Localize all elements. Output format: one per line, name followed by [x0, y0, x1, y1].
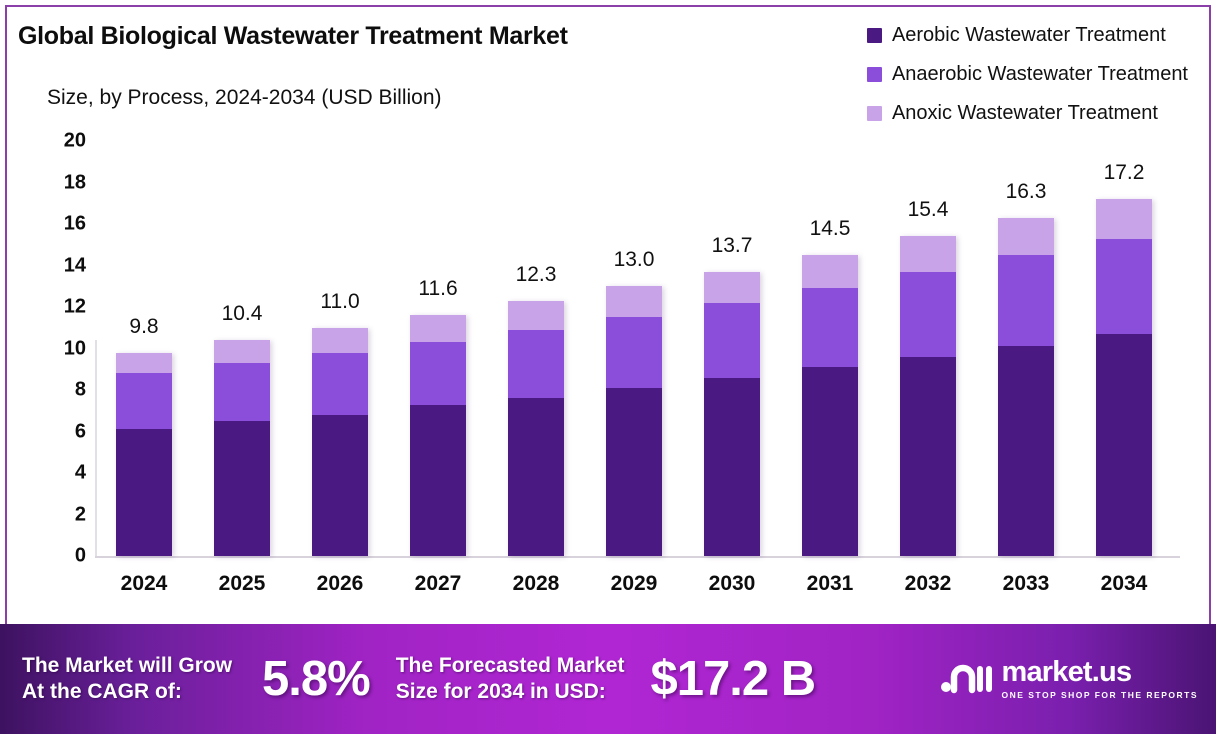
bar-segment[interactable] — [802, 288, 858, 367]
y-axis-tick-label: 6 — [36, 420, 86, 443]
y-axis-tick-label: 2 — [36, 503, 86, 526]
bar-segment[interactable] — [1096, 199, 1152, 238]
bar-segment[interactable] — [312, 328, 368, 353]
bar-segment[interactable] — [214, 421, 270, 556]
x-axis-tick-label: 2031 — [781, 572, 879, 596]
bar-value-label: 14.5 — [781, 217, 879, 241]
bar-segment[interactable] — [116, 353, 172, 374]
y-axis-tick-label: 16 — [36, 213, 86, 236]
bar-segment[interactable] — [1096, 239, 1152, 334]
forecast-label-block: The Forecasted Market Size for 2034 in U… — [396, 653, 625, 706]
bar-segment[interactable] — [802, 367, 858, 556]
cagr-value: 5.8% — [262, 651, 370, 707]
cagr-label-line2: At the CAGR of: — [22, 679, 232, 705]
stacked-bar[interactable] — [312, 328, 368, 556]
x-axis-tick-label: 2026 — [291, 572, 389, 596]
bar-group[interactable]: 11.02026 — [291, 0, 389, 620]
bar-segment[interactable] — [410, 405, 466, 556]
bar-value-label: 9.8 — [95, 315, 193, 339]
bar-group[interactable]: 12.32028 — [487, 0, 585, 620]
bar-segment[interactable] — [312, 353, 368, 415]
forecast-label-line1: The Forecasted Market — [396, 653, 625, 679]
bar-value-label: 15.4 — [879, 198, 977, 222]
cagr-value-block: 5.8% — [262, 651, 370, 707]
forecast-value: $17.2 B — [650, 651, 815, 707]
bar-value-label: 17.2 — [1075, 161, 1173, 185]
bar-segment[interactable] — [704, 272, 760, 303]
x-axis-tick-label: 2029 — [585, 572, 683, 596]
bar-value-label: 13.0 — [585, 248, 683, 272]
bar-segment[interactable] — [998, 218, 1054, 255]
bar-segment[interactable] — [704, 303, 760, 378]
bar-value-label: 10.4 — [193, 302, 291, 326]
bar-value-label: 11.6 — [389, 277, 487, 301]
logo-tagline: ONE STOP SHOP FOR THE REPORTS — [1001, 690, 1198, 700]
y-axis-tick-label: 18 — [36, 171, 86, 194]
bar-value-label: 12.3 — [487, 263, 585, 287]
bar-segment[interactable] — [508, 301, 564, 330]
bar-group[interactable]: 9.82024 — [95, 0, 193, 620]
bar-value-label: 11.0 — [291, 290, 389, 314]
y-axis-tick-label: 12 — [36, 296, 86, 319]
y-axis-tick-label: 20 — [36, 130, 86, 153]
bar-group[interactable]: 15.42032 — [879, 0, 977, 620]
x-axis-tick-label: 2025 — [193, 572, 291, 596]
bar-segment[interactable] — [900, 236, 956, 271]
bar-segment[interactable] — [900, 272, 956, 357]
bar-group[interactable]: 16.32033 — [977, 0, 1075, 620]
plot-area: 02468101214161820 9.8202410.4202511.0202… — [0, 0, 1206, 620]
bar-group[interactable]: 17.22034 — [1075, 0, 1173, 620]
stacked-bar[interactable] — [704, 272, 760, 556]
x-axis-tick-label: 2027 — [389, 572, 487, 596]
bar-segment[interactable] — [704, 378, 760, 556]
stacked-bar[interactable] — [802, 255, 858, 556]
bar-group[interactable]: 11.62027 — [389, 0, 487, 620]
x-axis-tick-label: 2028 — [487, 572, 585, 596]
x-axis-tick-label: 2032 — [879, 572, 977, 596]
bar-segment[interactable] — [116, 429, 172, 556]
bar-segment[interactable] — [900, 357, 956, 556]
y-axis: 02468101214161820 — [36, 0, 86, 620]
bar-segment[interactable] — [802, 255, 858, 288]
market-us-logo-icon — [940, 660, 992, 699]
bar-value-label: 13.7 — [683, 234, 781, 258]
cagr-label-line1: The Market will Grow — [22, 653, 232, 679]
bar-group[interactable]: 13.72030 — [683, 0, 781, 620]
x-axis-tick-label: 2034 — [1075, 572, 1173, 596]
stacked-bar[interactable] — [214, 340, 270, 556]
bar-segment[interactable] — [508, 330, 564, 398]
x-axis-tick-label: 2033 — [977, 572, 1075, 596]
bar-segment[interactable] — [998, 255, 1054, 346]
logo-text: market.us ONE STOP SHOP FOR THE REPORTS — [1001, 658, 1198, 700]
stacked-bar[interactable] — [998, 218, 1054, 556]
infographic-root: Global Biological Wastewater Treatment M… — [0, 0, 1216, 734]
bar-segment[interactable] — [214, 363, 270, 421]
summary-banner: The Market will Grow At the CAGR of: 5.8… — [0, 624, 1216, 734]
bar-group[interactable]: 14.52031 — [781, 0, 879, 620]
bar-segment[interactable] — [214, 340, 270, 363]
y-axis-tick-label: 0 — [36, 545, 86, 568]
y-axis-tick-label: 10 — [36, 337, 86, 360]
y-axis-tick-label: 14 — [36, 254, 86, 277]
bar-segment[interactable] — [116, 373, 172, 429]
stacked-bar[interactable] — [900, 236, 956, 556]
market-us-logo[interactable]: market.us ONE STOP SHOP FOR THE REPORTS — [940, 658, 1198, 700]
bar-segment[interactable] — [410, 342, 466, 404]
stacked-bar[interactable] — [606, 286, 662, 556]
y-axis-tick-label: 8 — [36, 379, 86, 402]
bar-group[interactable]: 13.02029 — [585, 0, 683, 620]
bar-segment[interactable] — [312, 415, 368, 556]
stacked-bar[interactable] — [410, 315, 466, 556]
bar-segment[interactable] — [1096, 334, 1152, 556]
bar-value-label: 16.3 — [977, 180, 1075, 204]
stacked-bar[interactable] — [1096, 199, 1152, 556]
forecast-value-block: $17.2 B — [650, 651, 815, 707]
bar-segment[interactable] — [998, 346, 1054, 556]
bar-series-container: 9.8202410.4202511.0202611.6202712.320281… — [95, 0, 1185, 620]
bar-segment[interactable] — [606, 317, 662, 388]
stacked-bar[interactable] — [508, 301, 564, 556]
bar-segment[interactable] — [508, 398, 564, 556]
stacked-bar[interactable] — [116, 353, 172, 556]
cagr-label-block: The Market will Grow At the CAGR of: — [22, 653, 232, 706]
x-axis-tick-label: 2024 — [95, 572, 193, 596]
x-axis-tick-label: 2030 — [683, 572, 781, 596]
bar-group[interactable]: 10.42025 — [193, 0, 291, 620]
bar-segment[interactable] — [606, 388, 662, 556]
y-axis-tick-label: 4 — [36, 462, 86, 485]
logo-wordmark: market.us — [1001, 658, 1131, 687]
bar-segment[interactable] — [410, 315, 466, 342]
bar-segment[interactable] — [606, 286, 662, 317]
forecast-label-line2: Size for 2034 in USD: — [396, 679, 625, 705]
